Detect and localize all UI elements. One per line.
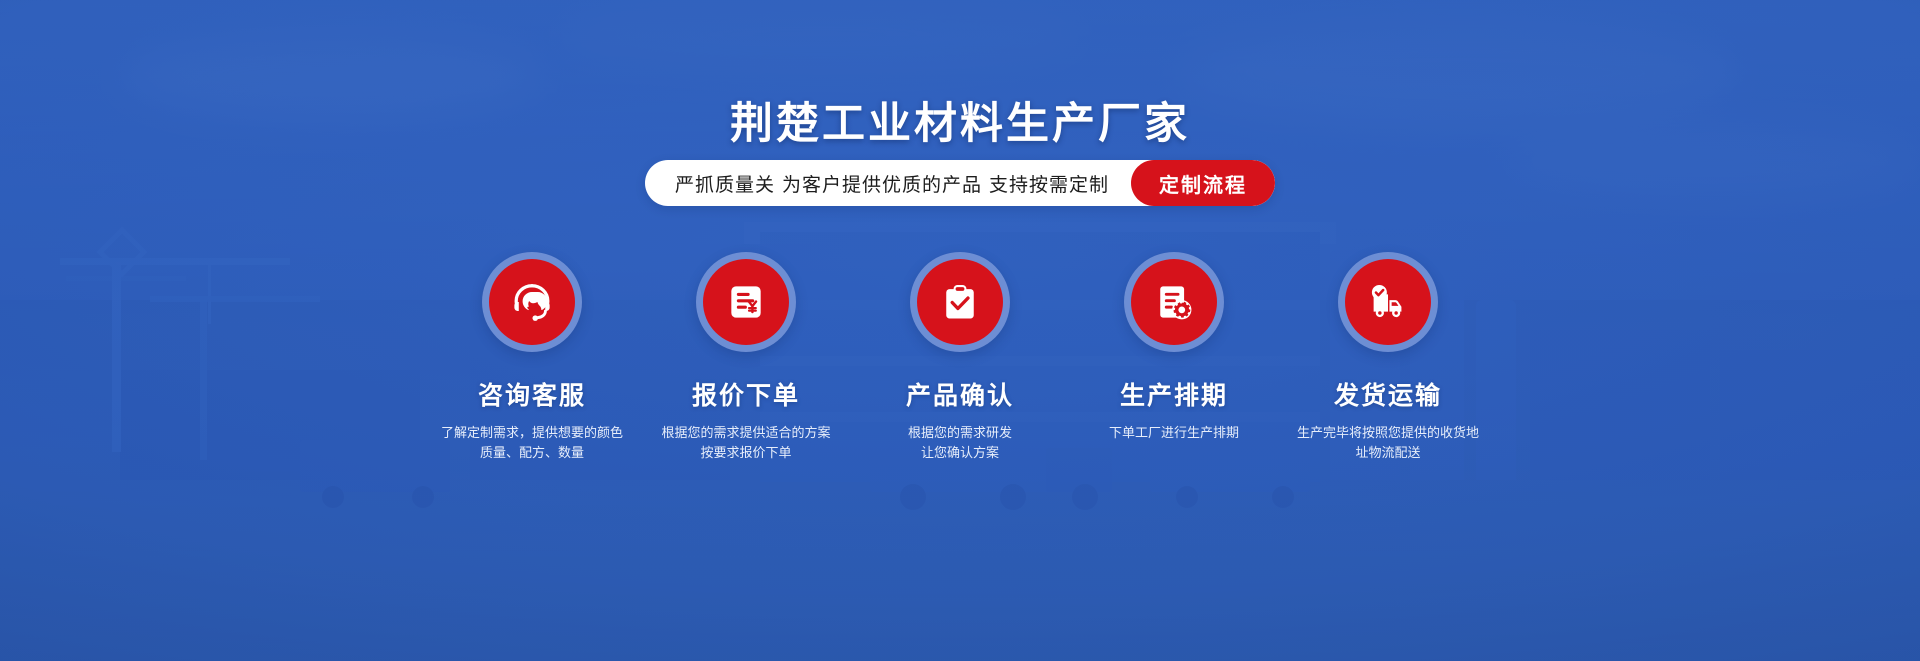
step-description-line: 生产完毕将按照您提供的收货地 [1283,424,1493,444]
step-description: 生产完毕将按照您提供的收货地 址物流配送 [1283,424,1493,464]
step-product-confirm[interactable]: 产品确认 根据您的需求研发 让您确认方案 [853,252,1067,464]
step-description-line: 质量、配方、数量 [432,444,632,464]
invoice-yuan-icon [724,280,768,324]
banner-content: 荆楚工业材料生产厂家 严抓质量关 为客户提供优质的产品 支持按需定制 定制流程 [0,0,1920,661]
step-title: 发货运输 [1334,376,1442,412]
step-description-line: 了解定制需求，提供想要的颜色 [432,424,632,444]
step-title: 报价下单 [692,376,800,412]
step-description-line: 根据您的需求提供适合的方案 [646,424,846,444]
promo-bar: 严抓质量关 为客户提供优质的产品 支持按需定制 定制流程 [0,160,1920,206]
custom-process-button[interactable]: 定制流程 [1131,160,1275,206]
step-quote-order[interactable]: 报价下单 根据您的需求提供适合的方案 按要求报价下单 [639,252,853,464]
step-description-line: 根据您的需求研发 [860,424,1060,444]
step-description-line: 按要求报价下单 [646,444,846,464]
step-description-line: 让您确认方案 [860,444,1060,464]
promo-text: 严抓质量关 为客户提供优质的产品 支持按需定制 [645,160,1131,206]
headset-support-icon [509,279,555,325]
icon-disc [1345,259,1431,345]
step-shipping-transport[interactable]: 发货运输 生产完毕将按照您提供的收货地 址物流配送 [1281,252,1495,464]
step-description: 根据您的需求提供适合的方案 按要求报价下单 [646,424,846,464]
promo-pill: 严抓质量关 为客户提供优质的产品 支持按需定制 定制流程 [645,160,1275,206]
process-steps: 咨询客服 了解定制需求，提供想要的颜色 质量、配方、数量 [0,252,1920,464]
icon-ring [696,252,796,352]
icon-ring [482,252,582,352]
step-description-line: 址物流配送 [1283,444,1493,464]
document-gear-icon [1152,280,1196,324]
step-description: 下单工厂进行生产排期 [1074,424,1274,444]
clipboard-check-icon [938,280,982,324]
step-description: 了解定制需求，提供想要的颜色 质量、配方、数量 [432,424,632,464]
hero-banner: 荆楚工业材料生产厂家 严抓质量关 为客户提供优质的产品 支持按需定制 定制流程 [0,0,1920,661]
icon-disc [489,259,575,345]
step-description: 根据您的需求研发 让您确认方案 [860,424,1060,464]
icon-disc [917,259,1003,345]
step-title: 产品确认 [906,376,1014,412]
icon-ring [1124,252,1224,352]
step-title: 生产排期 [1120,376,1228,412]
delivery-truck-check-icon [1365,279,1411,325]
icon-disc [1131,259,1217,345]
step-description-line: 下单工厂进行生产排期 [1074,424,1274,444]
icon-ring [910,252,1010,352]
step-consult-service[interactable]: 咨询客服 了解定制需求，提供想要的颜色 质量、配方、数量 [425,252,639,464]
page-title: 荆楚工业材料生产厂家 [0,89,1920,151]
step-production-schedule[interactable]: 生产排期 下单工厂进行生产排期 [1067,252,1281,444]
step-title: 咨询客服 [478,376,586,412]
icon-ring [1338,252,1438,352]
icon-disc [703,259,789,345]
